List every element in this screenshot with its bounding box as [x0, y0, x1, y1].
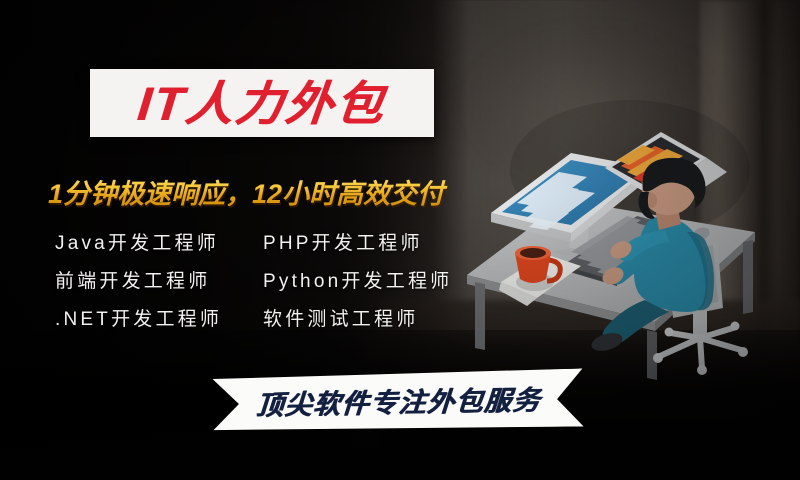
page-title: IT人力外包 [136, 80, 389, 127]
mug-coffee [520, 248, 546, 258]
job-role-item: 软件测试工程师 [263, 304, 495, 331]
job-role-item: PHP开发工程师 [263, 228, 495, 255]
job-role-item: .NET开发工程师 [55, 304, 263, 331]
job-role-list: Java开发工程师 PHP开发工程师 前端开发工程师 Python开发工程师 .… [55, 222, 495, 336]
developer-illustration [455, 50, 785, 380]
bottom-ribbon: 顶尖软件专注外包服务 [212, 368, 583, 433]
job-role-item: Python开发工程师 [263, 266, 495, 293]
job-row: 前端开发工程师 Python开发工程师 [55, 260, 495, 298]
title-banner: IT人力外包 [90, 69, 434, 137]
subtitle-tagline: 1分钟极速响应，12小时高效交付 [48, 172, 518, 206]
job-role-item: Java开发工程师 [55, 228, 263, 255]
job-row: Java开发工程师 PHP开发工程师 [55, 222, 495, 260]
job-row: .NET开发工程师 软件测试工程师 [55, 298, 495, 336]
poster-root: IT人力外包 1分钟极速响应，12小时高效交付 Java开发工程师 PHP开发工… [0, 0, 800, 480]
job-role-item: 前端开发工程师 [55, 266, 263, 293]
ribbon-content: 顶尖软件专注外包服务 [212, 368, 583, 433]
ribbon-slogan: 顶尖软件专注外包服务 [254, 378, 542, 423]
desk-leg-right [743, 240, 753, 314]
